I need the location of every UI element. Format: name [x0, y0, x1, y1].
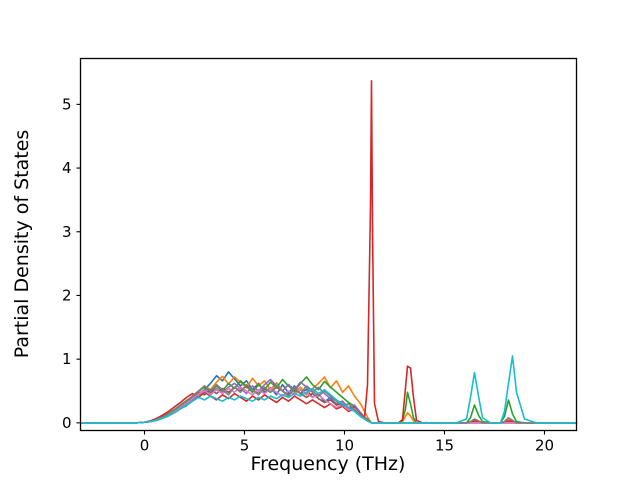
- x-tick-label: 20: [535, 437, 554, 455]
- y-tick-label: 1: [62, 350, 72, 368]
- x-tick-label: 5: [240, 437, 250, 455]
- y-axis-label: Partial Density of States: [11, 130, 33, 359]
- y-tick-label: 2: [62, 286, 72, 304]
- x-tick-label: 0: [140, 437, 150, 455]
- y-tick-label: 5: [62, 95, 72, 113]
- y-tick-label: 0: [62, 414, 72, 432]
- x-tick-label: 15: [435, 437, 454, 455]
- figure-background: [0, 0, 640, 480]
- pdos-plot: 05101520012345 Frequency (THz) Partial D…: [0, 0, 640, 480]
- x-tick-label: 10: [335, 437, 354, 455]
- figure-canvas: 05101520012345 Frequency (THz) Partial D…: [0, 0, 640, 480]
- y-tick-label: 4: [62, 159, 72, 177]
- y-tick-label: 3: [62, 223, 72, 241]
- x-axis-label: Frequency (THz): [251, 453, 406, 475]
